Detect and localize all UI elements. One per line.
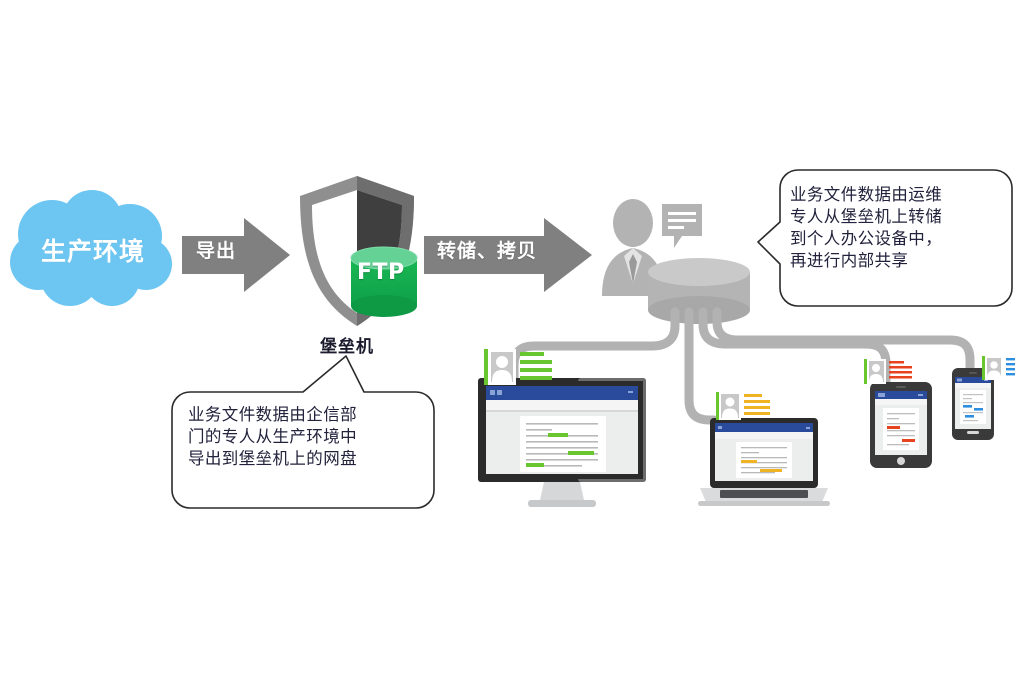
user-card-smartphone bbox=[982, 356, 1015, 384]
user-card-desktop bbox=[484, 349, 554, 389]
callout-transfer-to-devices-text: 业务文件数据由运维 专人从堡垒机上转储 到个人办公设备中， 再进行内部共享 bbox=[790, 184, 1004, 272]
diagram-canvas: 生产环境 导出 bbox=[0, 0, 1015, 675]
user-card-laptop bbox=[716, 392, 772, 424]
arrow-export-label: 导出 bbox=[196, 236, 236, 263]
ftp-label: FTP bbox=[357, 260, 405, 285]
callout-export-to-bastion-text: 业务文件数据由企信部 门的专人从生产环境中 导出到堡垒机上的网盘 bbox=[188, 404, 428, 470]
arrow-transfer-copy-label: 转储、拷贝 bbox=[437, 236, 537, 263]
ftp-database-icon bbox=[349, 245, 419, 327]
laptop bbox=[698, 418, 830, 510]
desktop-monitor bbox=[478, 378, 650, 514]
bastion-host-caption: 堡垒机 bbox=[320, 332, 374, 357]
user-card-tablet bbox=[864, 359, 914, 388]
production-environment-node: 生产环境 bbox=[8, 190, 178, 310]
avatar-card-icon bbox=[864, 359, 914, 384]
tablet bbox=[870, 382, 932, 472]
avatar-card-icon bbox=[716, 392, 772, 420]
avatar-card-icon bbox=[484, 349, 554, 385]
avatar-card-icon bbox=[982, 356, 1015, 380]
cloud-label: 生产环境 bbox=[8, 190, 178, 310]
